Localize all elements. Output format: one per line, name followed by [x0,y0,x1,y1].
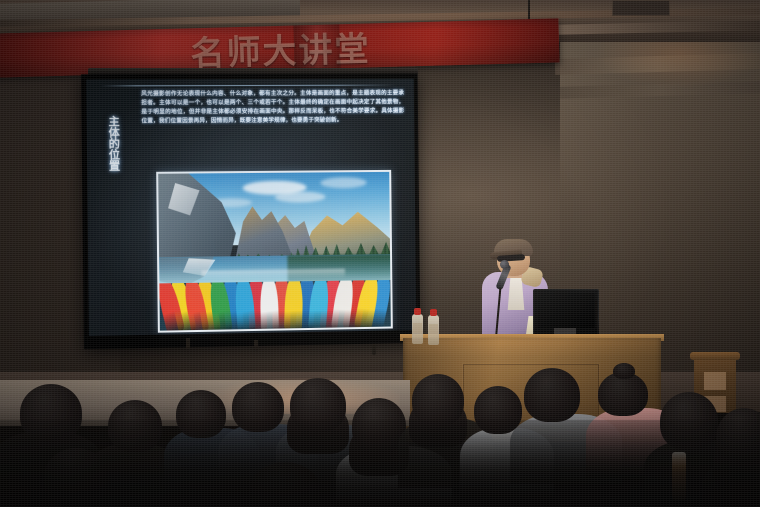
slide-photo-moraine-lake [156,170,393,333]
slide-surface: 主体的位置 风光摄影创作无论表现什么内容、什么对象，都有主次之分。主体是画面的重… [86,79,416,336]
audience-member-head [524,368,580,422]
photo-cloud [321,177,367,188]
audience-member-head [412,374,464,426]
slide-divider [101,85,397,87]
photo-cloud [275,191,326,202]
projection-screen: 主体的位置 风光摄影创作无论表现什么内容、什么对象，都有主次之分。主体是画面的重… [81,74,420,350]
photo-canoe [260,280,279,331]
screen-hook [186,338,190,349]
photo-canoe-row [159,280,390,331]
slide-body-text: 风光摄影创作无论表现什么内容、什么对象，都有主次之分。主体是画面的重点，是主题表… [141,90,404,127]
water-bottle [428,315,439,345]
stool-seat [690,352,740,360]
stool-gap [704,372,726,390]
audience-member-hair-bun [613,363,635,379]
lecture-hall-photo: 名师大讲堂 主体的位置 风光摄影创作无论表现什么内容、什么对象，都有主次之分。主… [0,0,760,507]
banner-fold [293,24,340,69]
monitor-screen [537,293,595,328]
audience-shadow [0,420,760,507]
ceiling-vent [612,0,670,16]
water-bottle [412,314,423,344]
microphone-head [500,260,509,269]
screen-hook [254,340,258,351]
slide-vertical-title: 主体的位置 [103,116,120,172]
laptop-monitor [533,289,599,337]
screen-hook [372,344,376,355]
photo-canoe [284,280,303,331]
